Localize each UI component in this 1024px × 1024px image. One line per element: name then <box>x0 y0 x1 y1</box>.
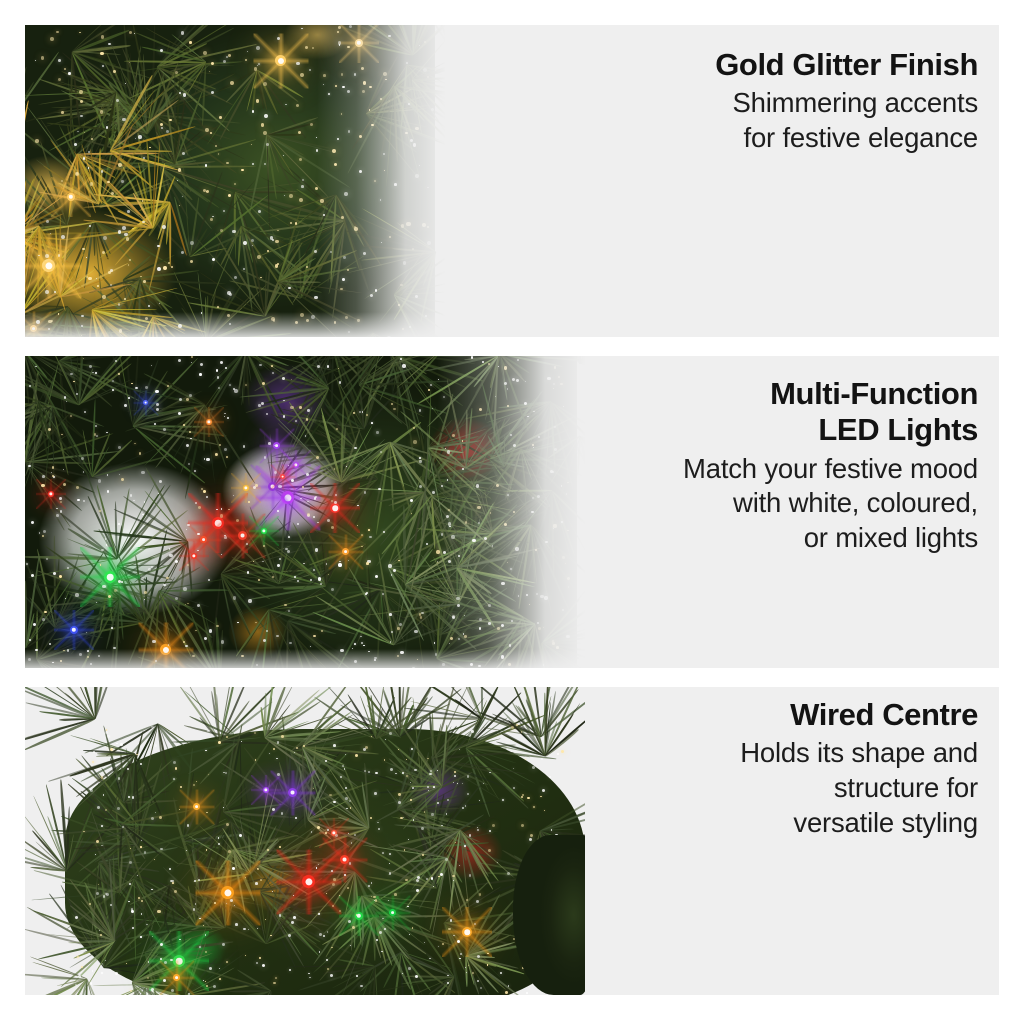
feature-panel-gold-glitter-finish: Gold Glitter Finish Shimmering accents f… <box>25 25 999 337</box>
panel-subtext: Shimmering accents for festive elegance <box>715 86 978 155</box>
photo-right-fade <box>317 25 445 337</box>
glitter-sparkle-layer <box>25 687 585 995</box>
photo-bottom-fade <box>25 312 445 337</box>
product-photo-gold-glitter <box>25 25 445 337</box>
feature-panel-multi-function-led-lights: Multi-Function LED Lights Match your fes… <box>25 356 999 668</box>
right-edge-branch <box>513 835 585 995</box>
photo-right-fade <box>437 356 585 668</box>
panel-copy-multi-function-leds: Multi-Function LED Lights Match your fes… <box>683 376 978 555</box>
product-photo-multi-function-leds <box>25 356 585 668</box>
panel-copy-wired-centre: Wired Centre Holds its shape and structu… <box>740 697 978 840</box>
panel-subtext: Match your festive mood with white, colo… <box>683 452 978 556</box>
feature-panel-wired-centre: Wired Centre Holds its shape and structu… <box>25 687 999 995</box>
feature-panel-sheet: Gold Glitter Finish Shimmering accents f… <box>0 0 1024 1024</box>
panel-subtext: Holds its shape and structure for versat… <box>740 736 978 840</box>
panel-headline: Multi-Function LED Lights <box>683 376 978 449</box>
panel-headline: Gold Glitter Finish <box>715 47 978 83</box>
panel-copy-gold-glitter: Gold Glitter Finish Shimmering accents f… <box>715 47 978 156</box>
photo-bottom-fade <box>25 649 585 668</box>
panel-headline: Wired Centre <box>740 697 978 733</box>
product-photo-wired-centre <box>25 687 585 995</box>
